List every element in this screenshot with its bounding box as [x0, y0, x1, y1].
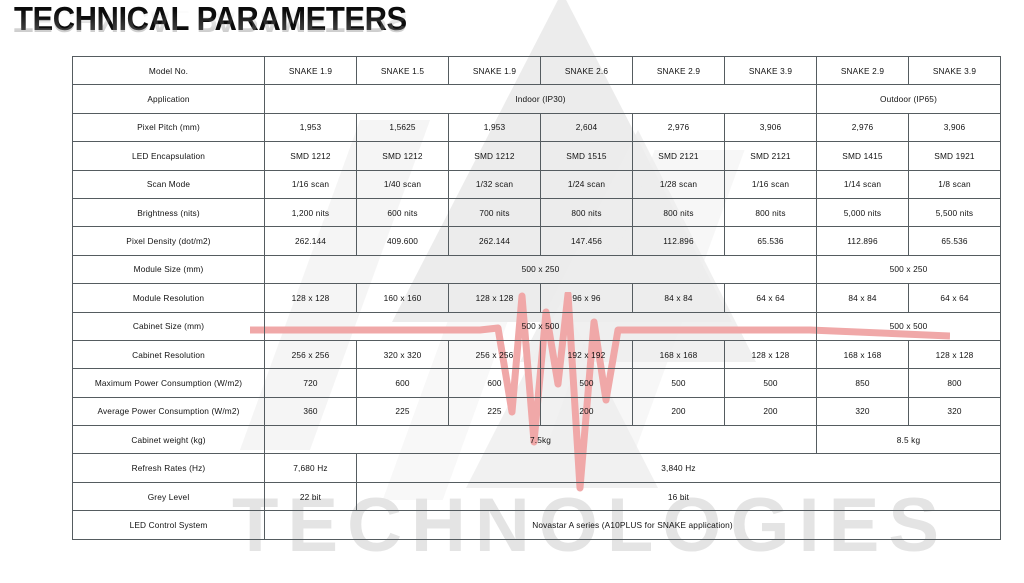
- value-cell-pixel-density-dot-m2-5: 112.896: [633, 227, 725, 255]
- row-label-maximum-power-consumption-w-m2: Maximum Power Consumption (W/m2): [73, 369, 265, 397]
- spec-table-container: Model No.SNAKE 1.9SNAKE 1.5SNAKE 1.9SNAK…: [72, 56, 1000, 540]
- row-label-cabinet-size-mm: Cabinet Size (mm): [73, 312, 265, 340]
- value-cell-led-encapsulation-5: SMD 2121: [633, 142, 725, 170]
- value-cell-brightness-nits-3: 700 nits: [449, 198, 541, 226]
- value-cell-refresh-rates-hz-1: 7,680 Hz: [265, 454, 357, 482]
- value-cell-average-power-consumption-w-m2-5: 200: [633, 397, 725, 425]
- value-cell-brightness-nits-1: 1,200 nits: [265, 198, 357, 226]
- value-cell-cabinet-resolution-3: 256 x 256: [449, 340, 541, 368]
- table-row-grey-level: Grey Level22 bit16 bit: [73, 482, 1001, 510]
- value-cell-scan-mode-1: 1/16 scan: [265, 170, 357, 198]
- value-cell-average-power-consumption-w-m2-3: 225: [449, 397, 541, 425]
- table-row-pixel-density-dot-m2: Pixel Density (dot/m2)262.144409.600262.…: [73, 227, 1001, 255]
- row-label-brightness-nits: Brightness (nits): [73, 198, 265, 226]
- value-cell-grey-level-1: 22 bit: [265, 482, 357, 510]
- value-cell-cabinet-resolution-7: 168 x 168: [817, 340, 909, 368]
- value-cell-pixel-density-dot-m2-7: 112.896: [817, 227, 909, 255]
- row-label-application: Application: [73, 85, 265, 113]
- value-cell-average-power-consumption-w-m2-6: 200: [725, 397, 817, 425]
- value-cell-maximum-power-consumption-w-m2-3: 600: [449, 369, 541, 397]
- value-cell-brightness-nits-7: 5,000 nits: [817, 198, 909, 226]
- value-cell-brightness-nits-5: 800 nits: [633, 198, 725, 226]
- value-cell-refresh-rates-hz-2: 3,840 Hz: [357, 454, 1001, 482]
- table-row-application: ApplicationIndoor (IP30)Outdoor (IP65): [73, 85, 1001, 113]
- row-label-average-power-consumption-w-m2: Average Power Consumption (W/m2): [73, 397, 265, 425]
- value-cell-maximum-power-consumption-w-m2-8: 800: [909, 369, 1001, 397]
- value-cell-scan-mode-2: 1/40 scan: [357, 170, 449, 198]
- value-cell-application-2: Outdoor (IP65): [817, 85, 1001, 113]
- model-cell-7: SNAKE 2.9: [817, 57, 909, 85]
- table-row-led-control-system: LED Control SystemNovastar A series (A10…: [73, 511, 1001, 539]
- row-label-module-size-mm: Module Size (mm): [73, 255, 265, 283]
- value-cell-pixel-pitch-mm-3: 1,953: [449, 113, 541, 141]
- value-cell-cabinet-resolution-1: 256 x 256: [265, 340, 357, 368]
- value-cell-maximum-power-consumption-w-m2-4: 500: [541, 369, 633, 397]
- slide-root: TECHNOLOGIES TECHNICAL PARAMETERS TECHNI…: [0, 0, 1024, 583]
- table-row-led-encapsulation: LED EncapsulationSMD 1212SMD 1212SMD 121…: [73, 142, 1001, 170]
- value-cell-led-encapsulation-7: SMD 1415: [817, 142, 909, 170]
- spec-table-body: Model No.SNAKE 1.9SNAKE 1.5SNAKE 1.9SNAK…: [73, 57, 1001, 540]
- table-row-pixel-pitch-mm: Pixel Pitch (mm)1,9531,56251,9532,6042,9…: [73, 113, 1001, 141]
- value-cell-module-resolution-7: 84 x 84: [817, 284, 909, 312]
- value-cell-cabinet-resolution-5: 168 x 168: [633, 340, 725, 368]
- model-cell-3: SNAKE 1.9: [449, 57, 541, 85]
- value-cell-pixel-pitch-mm-8: 3,906: [909, 113, 1001, 141]
- value-cell-cabinet-resolution-4: 192 x 192: [541, 340, 633, 368]
- value-cell-brightness-nits-2: 600 nits: [357, 198, 449, 226]
- table-row-refresh-rates-hz: Refresh Rates (Hz)7,680 Hz3,840 Hz: [73, 454, 1001, 482]
- value-cell-module-resolution-3: 128 x 128: [449, 284, 541, 312]
- value-cell-pixel-pitch-mm-4: 2,604: [541, 113, 633, 141]
- value-cell-module-resolution-4: 96 x 96: [541, 284, 633, 312]
- table-row-brightness-nits: Brightness (nits)1,200 nits600 nits700 n…: [73, 198, 1001, 226]
- value-cell-scan-mode-4: 1/24 scan: [541, 170, 633, 198]
- value-cell-led-encapsulation-1: SMD 1212: [265, 142, 357, 170]
- value-cell-pixel-density-dot-m2-3: 262.144: [449, 227, 541, 255]
- value-cell-led-encapsulation-4: SMD 1515: [541, 142, 633, 170]
- value-cell-pixel-pitch-mm-5: 2,976: [633, 113, 725, 141]
- value-cell-pixel-pitch-mm-6: 3,906: [725, 113, 817, 141]
- table-row-cabinet-weight-kg: Cabinet weight (kg)7.5kg8.5 kg: [73, 426, 1001, 454]
- model-cell-2: SNAKE 1.5: [357, 57, 449, 85]
- value-cell-pixel-density-dot-m2-4: 147.456: [541, 227, 633, 255]
- value-cell-average-power-consumption-w-m2-2: 225: [357, 397, 449, 425]
- row-label-cabinet-weight-kg: Cabinet weight (kg): [73, 426, 265, 454]
- technical-parameters-table: Model No.SNAKE 1.9SNAKE 1.5SNAKE 1.9SNAK…: [72, 56, 1001, 540]
- value-cell-pixel-pitch-mm-1: 1,953: [265, 113, 357, 141]
- table-row-module-size-mm: Module Size (mm)500 x 250500 x 250: [73, 255, 1001, 283]
- value-cell-led-control-system-1: Novastar A series (A10PLUS for SNAKE app…: [265, 511, 1001, 539]
- value-cell-scan-mode-8: 1/8 scan: [909, 170, 1001, 198]
- value-cell-cabinet-resolution-6: 128 x 128: [725, 340, 817, 368]
- value-cell-module-size-mm-1: 500 x 250: [265, 255, 817, 283]
- value-cell-cabinet-resolution-8: 128 x 128: [909, 340, 1001, 368]
- row-label-grey-level: Grey Level: [73, 482, 265, 510]
- value-cell-cabinet-resolution-2: 320 x 320: [357, 340, 449, 368]
- value-cell-average-power-consumption-w-m2-4: 200: [541, 397, 633, 425]
- value-cell-maximum-power-consumption-w-m2-5: 500: [633, 369, 725, 397]
- value-cell-average-power-consumption-w-m2-1: 360: [265, 397, 357, 425]
- value-cell-application-1: Indoor (IP30): [265, 85, 817, 113]
- value-cell-led-encapsulation-3: SMD 1212: [449, 142, 541, 170]
- model-cell-1: SNAKE 1.9: [265, 57, 357, 85]
- value-cell-average-power-consumption-w-m2-7: 320: [817, 397, 909, 425]
- model-cell-8: SNAKE 3.9: [909, 57, 1001, 85]
- value-cell-maximum-power-consumption-w-m2-2: 600: [357, 369, 449, 397]
- value-cell-pixel-density-dot-m2-2: 409.600: [357, 227, 449, 255]
- row-label-refresh-rates-hz: Refresh Rates (Hz): [73, 454, 265, 482]
- value-cell-scan-mode-5: 1/28 scan: [633, 170, 725, 198]
- row-label-scan-mode: Scan Mode: [73, 170, 265, 198]
- table-row-cabinet-resolution: Cabinet Resolution256 x 256320 x 320256 …: [73, 340, 1001, 368]
- model-cell-4: SNAKE 2.6: [541, 57, 633, 85]
- model-cell-5: SNAKE 2.9: [633, 57, 725, 85]
- value-cell-led-encapsulation-8: SMD 1921: [909, 142, 1001, 170]
- table-row-model-no: Model No.SNAKE 1.9SNAKE 1.5SNAKE 1.9SNAK…: [73, 57, 1001, 85]
- value-cell-pixel-pitch-mm-7: 2,976: [817, 113, 909, 141]
- row-label-module-resolution: Module Resolution: [73, 284, 265, 312]
- value-cell-average-power-consumption-w-m2-8: 320: [909, 397, 1001, 425]
- model-cell-6: SNAKE 3.9: [725, 57, 817, 85]
- table-row-module-resolution: Module Resolution128 x 128160 x 160128 x…: [73, 284, 1001, 312]
- row-label-pixel-density-dot-m2: Pixel Density (dot/m2): [73, 227, 265, 255]
- row-label-led-control-system: LED Control System: [73, 511, 265, 539]
- value-cell-led-encapsulation-6: SMD 2121: [725, 142, 817, 170]
- value-cell-pixel-pitch-mm-2: 1,5625: [357, 113, 449, 141]
- value-cell-maximum-power-consumption-w-m2-7: 850: [817, 369, 909, 397]
- value-cell-pixel-density-dot-m2-8: 65.536: [909, 227, 1001, 255]
- value-cell-pixel-density-dot-m2-6: 65.536: [725, 227, 817, 255]
- row-label-model-no: Model No.: [73, 57, 265, 85]
- value-cell-brightness-nits-4: 800 nits: [541, 198, 633, 226]
- value-cell-scan-mode-3: 1/32 scan: [449, 170, 541, 198]
- page-title-reflection: TECHNICAL PARAMETERS: [14, 3, 407, 37]
- table-row-average-power-consumption-w-m2: Average Power Consumption (W/m2)36022522…: [73, 397, 1001, 425]
- value-cell-module-size-mm-2: 500 x 250: [817, 255, 1001, 283]
- value-cell-grey-level-2: 16 bit: [357, 482, 1001, 510]
- value-cell-maximum-power-consumption-w-m2-6: 500: [725, 369, 817, 397]
- value-cell-brightness-nits-6: 800 nits: [725, 198, 817, 226]
- value-cell-scan-mode-6: 1/16 scan: [725, 170, 817, 198]
- value-cell-maximum-power-consumption-w-m2-1: 720: [265, 369, 357, 397]
- row-label-led-encapsulation: LED Encapsulation: [73, 142, 265, 170]
- table-row-scan-mode: Scan Mode1/16 scan1/40 scan1/32 scan1/24…: [73, 170, 1001, 198]
- value-cell-pixel-density-dot-m2-1: 262.144: [265, 227, 357, 255]
- value-cell-cabinet-weight-kg-2: 8.5 kg: [817, 426, 1001, 454]
- value-cell-cabinet-size-mm-2: 500 x 500: [817, 312, 1001, 340]
- value-cell-module-resolution-5: 84 x 84: [633, 284, 725, 312]
- value-cell-scan-mode-7: 1/14 scan: [817, 170, 909, 198]
- value-cell-led-encapsulation-2: SMD 1212: [357, 142, 449, 170]
- value-cell-module-resolution-6: 64 x 64: [725, 284, 817, 312]
- table-row-cabinet-size-mm: Cabinet Size (mm)500 x 500500 x 500: [73, 312, 1001, 340]
- value-cell-brightness-nits-8: 5,500 nits: [909, 198, 1001, 226]
- value-cell-module-resolution-8: 64 x 64: [909, 284, 1001, 312]
- row-label-pixel-pitch-mm: Pixel Pitch (mm): [73, 113, 265, 141]
- table-row-maximum-power-consumption-w-m2: Maximum Power Consumption (W/m2)72060060…: [73, 369, 1001, 397]
- value-cell-cabinet-size-mm-1: 500 x 500: [265, 312, 817, 340]
- value-cell-cabinet-weight-kg-1: 7.5kg: [265, 426, 817, 454]
- value-cell-module-resolution-1: 128 x 128: [265, 284, 357, 312]
- row-label-cabinet-resolution: Cabinet Resolution: [73, 340, 265, 368]
- value-cell-module-resolution-2: 160 x 160: [357, 284, 449, 312]
